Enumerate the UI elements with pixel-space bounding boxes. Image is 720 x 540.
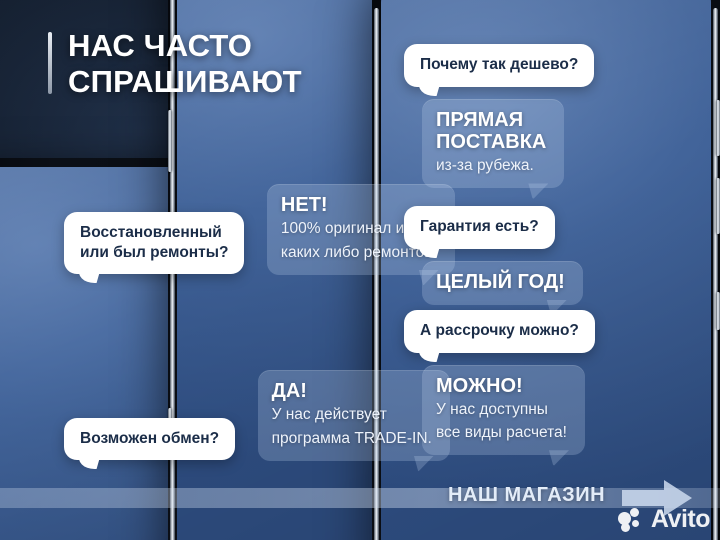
avito-dot: [621, 523, 630, 532]
answer-headline-line-1: ПРЯМАЯ: [436, 109, 546, 131]
bubble-tail-icon: [418, 348, 440, 366]
promo-creative: НАС ЧАСТО СПРАШИВАЮТ Восстановленный или…: [0, 0, 720, 540]
title-accent-bar: [48, 32, 52, 94]
question-line-1: Восстановленный: [80, 223, 228, 243]
answer-line-1: У нас доступны: [436, 400, 567, 420]
question-bubble: Гарантия есть?: [404, 206, 555, 249]
answer-line-1: из-за рубежа.: [436, 156, 546, 176]
page-title-line-2: СПРАШИВАЮТ: [68, 64, 302, 100]
avito-watermark: Avito: [618, 507, 710, 532]
answer-headline: МОЖНО!: [436, 375, 567, 397]
question-line-1: А рассрочку можно?: [420, 321, 579, 341]
page-title-line-1: НАС ЧАСТО: [68, 28, 302, 64]
page-title: НАС ЧАСТО СПРАШИВАЮТ: [48, 28, 302, 100]
faq-item-4: Гарантия есть? ЦЕЛЫЙ ГОД!: [404, 206, 720, 305]
question-bubble: Почему так дешево?: [404, 44, 594, 87]
avito-wordmark: Avito: [651, 507, 710, 532]
question-line-1: Почему так дешево?: [420, 55, 578, 75]
answer-bubble: ПРЯМАЯ ПОСТАВКА из-за рубежа.: [422, 99, 564, 189]
answer-bubble: МОЖНО! У нас доступны все виды расчета!: [422, 365, 585, 456]
bubble-tail-icon: [78, 269, 100, 287]
faq-item-2: Возможен обмен? ДА! У нас действует прог…: [64, 358, 450, 461]
question-bubble: Восстановленный или был ремонты?: [64, 212, 244, 274]
faq-item-3: Почему так дешево? ПРЯМАЯ ПОСТАВКА из-за…: [404, 44, 720, 188]
avito-dots-icon: [618, 508, 646, 532]
bubble-tail-icon: [78, 455, 100, 473]
answer-bubble: ЦЕЛЫЙ ГОД!: [422, 261, 583, 305]
question-bubble: А рассрочку можно?: [404, 310, 595, 353]
question-bubble: Возможен обмен?: [64, 418, 235, 461]
faq-item-1: Восстановленный или был ремонты? НЕТ! 10…: [64, 172, 455, 275]
bubble-tail-icon: [418, 244, 440, 262]
bottom-banner-band: [0, 488, 720, 508]
shop-cta-label[interactable]: НАШ МАГАЗИН: [448, 484, 605, 507]
avito-dot: [632, 520, 639, 527]
bubble-tail-icon: [418, 82, 440, 100]
answer-headline-line-2: ПОСТАВКА: [436, 131, 546, 153]
answer-headline: ЦЕЛЫЙ ГОД!: [436, 271, 565, 293]
answer-line-2: все виды расчета!: [436, 423, 567, 443]
avito-dot: [630, 508, 639, 517]
question-line-1: Возможен обмен?: [80, 429, 219, 449]
question-line-1: Гарантия есть?: [420, 217, 539, 237]
question-line-2: или был ремонты?: [80, 243, 228, 263]
faq-item-5: А рассрочку можно? МОЖНО! У нас доступны…: [404, 310, 720, 455]
phone-side-button: [168, 110, 172, 172]
